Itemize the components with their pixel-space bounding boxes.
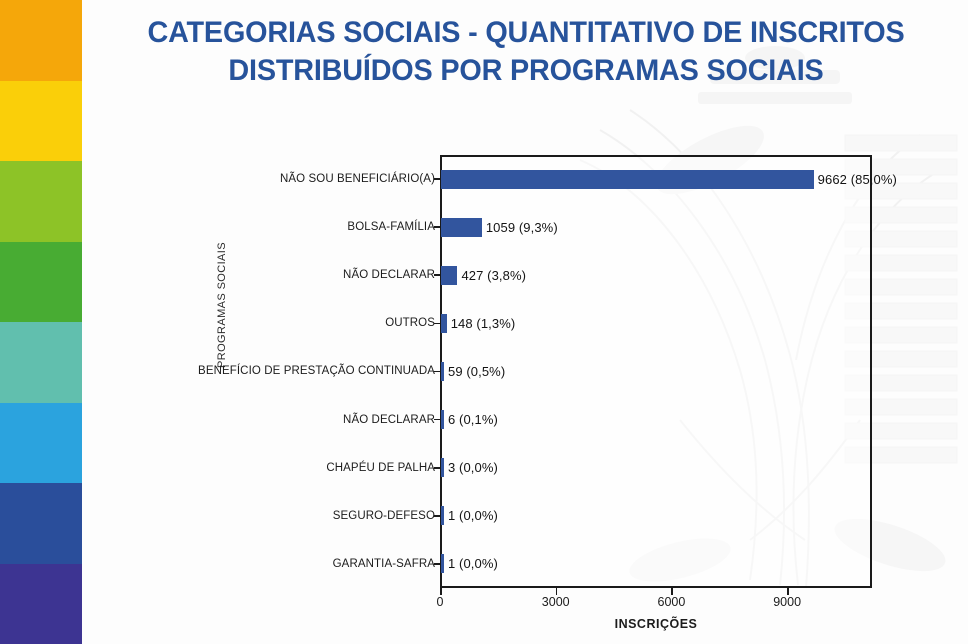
y-axis-tick-label: BENEFÍCIO DE PRESTAÇÃO CONTINUADA	[198, 365, 435, 377]
bar-row: BENEFÍCIO DE PRESTAÇÃO CONTINUADA59 (0,5…	[160, 347, 872, 395]
bar[interactable]	[441, 218, 482, 237]
y-axis-tick-label: SEGURO-DEFESO	[333, 510, 435, 522]
bar[interactable]	[441, 554, 444, 573]
y-axis-tick-label: CHAPÉU DE PALHA	[326, 462, 435, 474]
x-axis-tick-mark	[440, 588, 442, 595]
bar-value-label: 148 (1,3%)	[451, 316, 516, 331]
bar-value-label: 59 (0,5%)	[448, 364, 505, 379]
x-axis-tick-label: 0	[437, 595, 444, 609]
page-title-line-2: DISTRIBUÍDOS POR PROGRAMAS SOCIAIS	[113, 52, 939, 90]
bar[interactable]	[441, 506, 444, 525]
bar[interactable]	[441, 458, 444, 477]
x-axis-tick-mark	[787, 588, 789, 595]
bar-value-label: 3 (0,0%)	[448, 460, 498, 475]
bar-value-label: 1059 (9,3%)	[486, 220, 558, 235]
bar-row: NÃO DECLARAR6 (0,1%)	[160, 396, 872, 444]
y-axis-tick-label: NÃO SOU BENEFICIÁRIO(A)	[280, 173, 435, 185]
slide-canvas: CATEGORIAS SOCIAIS - QUANTITATIVO DE INS…	[0, 0, 968, 644]
y-axis-tick-mark	[434, 178, 440, 180]
y-axis-tick-mark	[434, 467, 440, 469]
x-axis-tick-label: 6000	[658, 595, 686, 609]
bar-value-label: 6 (0,1%)	[448, 412, 498, 427]
bar-value-label: 9662 (85,0%)	[818, 172, 897, 187]
bar[interactable]	[441, 266, 457, 285]
band-teal	[0, 322, 82, 403]
x-axis-tick-label: 3000	[542, 595, 570, 609]
y-axis-tick-label: OUTROS	[385, 317, 435, 329]
bar-row: BOLSA-FAMÍLIA1059 (9,3%)	[160, 203, 872, 251]
y-axis-tick-label: BOLSA-FAMÍLIA	[347, 221, 435, 233]
band-light-blue	[0, 403, 82, 484]
bar[interactable]	[441, 170, 814, 189]
bar-row: NÃO SOU BENEFICIÁRIO(A)9662 (85,0%)	[160, 155, 872, 203]
y-axis-tick-mark	[434, 371, 440, 373]
x-axis-tick-label: 9000	[773, 595, 801, 609]
x-axis-ticks: 0300060009000	[440, 588, 872, 614]
y-axis-tick-label: NÃO DECLARAR	[343, 269, 435, 281]
bar-value-label: 1 (0,0%)	[448, 508, 498, 523]
bar-value-label: 1 (0,0%)	[448, 556, 498, 571]
bar[interactable]	[441, 362, 444, 381]
x-axis-title: INSCRIÇÕES	[440, 617, 872, 631]
bar-row: GARANTIA-SAFRA1 (0,0%)	[160, 540, 872, 588]
page-title: CATEGORIAS SOCIAIS - QUANTITATIVO DE INS…	[113, 14, 939, 91]
bar-rows: NÃO SOU BENEFICIÁRIO(A)9662 (85,0%)BOLSA…	[160, 155, 872, 588]
bar-row: CHAPÉU DE PALHA3 (0,0%)	[160, 444, 872, 492]
band-yellow	[0, 81, 82, 162]
band-orange	[0, 0, 82, 81]
bar-chart: PROGRAMAS SOCIAIS NÃO SOU BENEFICIÁRIO(A…	[160, 120, 960, 644]
band-light-green	[0, 161, 82, 242]
page-title-line-1: CATEGORIAS SOCIAIS - QUANTITATIVO DE INS…	[113, 14, 939, 52]
y-axis-tick-mark	[434, 274, 440, 276]
y-axis-tick-mark	[434, 515, 440, 517]
y-axis-tick-label: GARANTIA-SAFRA	[333, 558, 435, 570]
x-axis-tick-mark	[556, 588, 558, 595]
y-axis-tick-label: NÃO DECLARAR	[343, 414, 435, 426]
rainbow-accent-strip	[0, 0, 82, 644]
bar-row: SEGURO-DEFESO1 (0,0%)	[160, 492, 872, 540]
y-axis-tick-mark	[434, 419, 440, 421]
band-green	[0, 242, 82, 323]
bar[interactable]	[441, 410, 444, 429]
bar-row: OUTROS148 (1,3%)	[160, 299, 872, 347]
band-blue	[0, 483, 82, 564]
y-axis-tick-mark	[434, 323, 440, 325]
bar-row: NÃO DECLARAR427 (3,8%)	[160, 251, 872, 299]
y-axis-tick-mark	[434, 563, 440, 565]
bar[interactable]	[441, 314, 447, 333]
band-indigo	[0, 564, 82, 644]
bar-value-label: 427 (3,8%)	[461, 268, 526, 283]
y-axis-tick-mark	[434, 226, 440, 228]
x-axis-tick-mark	[671, 588, 673, 595]
